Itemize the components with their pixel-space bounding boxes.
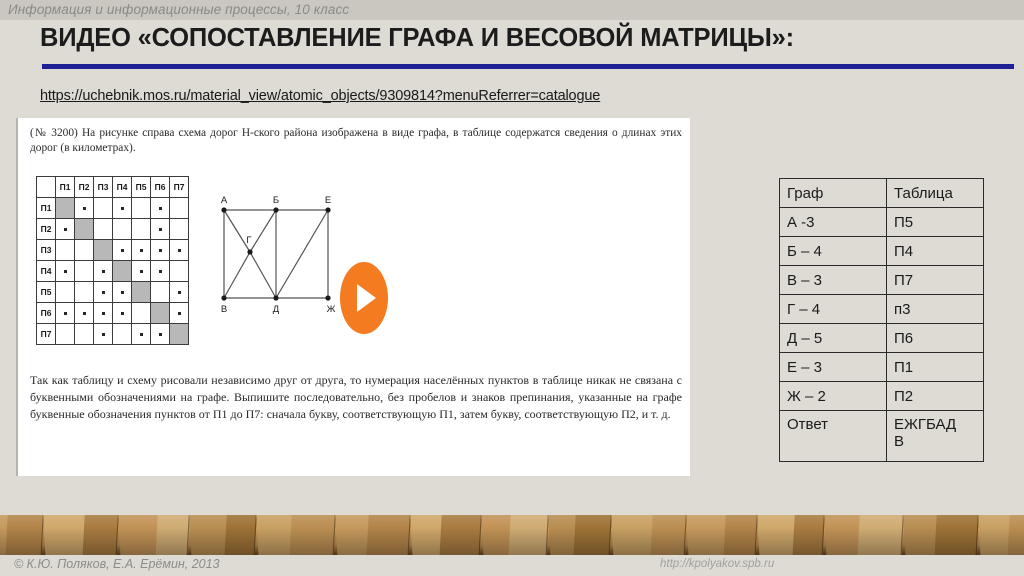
- matrix-row-header: П4: [37, 261, 56, 282]
- task-intro-text: (№ 3200) На рисунке справа схема дорог Н…: [30, 126, 682, 155]
- matrix-marked-cell: [94, 324, 113, 345]
- task-outro-text: Так как таблицу и схему рисовали независ…: [30, 372, 682, 423]
- matrix-empty-cell: [132, 219, 151, 240]
- matrix-row: П4: [37, 261, 189, 282]
- mapping-row: Е – 3П1: [780, 353, 984, 382]
- matrix-marked-cell: [151, 198, 170, 219]
- matrix-col-header: П5: [132, 177, 151, 198]
- matrix-marked-cell: [132, 261, 151, 282]
- matrix-empty-cell: [132, 198, 151, 219]
- course-label: Информация и информационные процессы, 10…: [8, 2, 349, 17]
- matrix-marked-cell: [170, 240, 189, 261]
- matrix-marked-cell: [75, 303, 94, 324]
- footer-site-link: http://kpolyakov.spb.ru: [660, 558, 774, 570]
- matrix-marked-cell: [132, 240, 151, 261]
- matrix-row: П3: [37, 240, 189, 261]
- matrix-marked-cell: [113, 303, 132, 324]
- matrix-empty-cell: [75, 261, 94, 282]
- graph-edge: [250, 210, 276, 252]
- matrix-empty-cell: [170, 198, 189, 219]
- graph-diagram: АБЕГВДЖ: [204, 180, 354, 330]
- matrix-marked-cell: [94, 261, 113, 282]
- matrix-marked-cell: [151, 261, 170, 282]
- matrix-header-row: П1П2П3П4П5П6П7: [37, 177, 189, 198]
- mapping-graph-cell: Г – 4: [780, 295, 887, 324]
- matrix-empty-cell: [56, 282, 75, 303]
- mapping-graph-cell: Е – 3: [780, 353, 887, 382]
- graph-vertex: [273, 207, 278, 212]
- mapping-table-cell: П7: [887, 266, 984, 295]
- mapping-row: В – 3П7: [780, 266, 984, 295]
- matrix-row: П7: [37, 324, 189, 345]
- matrix-diagonal-cell: [170, 324, 189, 345]
- mapping-row: Б – 4П4: [780, 237, 984, 266]
- matrix-row: П1: [37, 198, 189, 219]
- slide: Информация и информационные процессы, 10…: [0, 0, 1024, 576]
- mapping-table-cell: П6: [887, 324, 984, 353]
- matrix-marked-cell: [113, 282, 132, 303]
- mapping-col-header: Таблица: [887, 179, 984, 208]
- play-triangle-icon: [357, 284, 376, 312]
- matrix-marked-cell: [94, 303, 113, 324]
- matrix-diagonal-cell: [56, 198, 75, 219]
- matrix-corner-cell: [37, 177, 56, 198]
- matrix-empty-cell: [75, 240, 94, 261]
- matrix-row: П2: [37, 219, 189, 240]
- matrix-col-header: П2: [75, 177, 94, 198]
- graph-vertex-label: А: [221, 195, 228, 206]
- graph-vertex-label: Е: [325, 195, 331, 206]
- matrix-marked-cell: [94, 282, 113, 303]
- matrix-diagonal-cell: [132, 282, 151, 303]
- mapping-table: ГрафТаблицаА -3П5Б – 4П4В – 3П7Г – 4п3Д …: [779, 178, 984, 462]
- matrix-marked-cell: [151, 219, 170, 240]
- matrix-diagonal-cell: [113, 261, 132, 282]
- mapping-table-cell: П1: [887, 353, 984, 382]
- footer-bar: © К.Ю. Поляков, Е.А. Ерёмин, 2013 http:/…: [0, 555, 1024, 576]
- mapping-graph-cell: Ж – 2: [780, 382, 887, 411]
- matrix-row-header: П5: [37, 282, 56, 303]
- mapping-graph-cell: А -3: [780, 208, 887, 237]
- matrix-empty-cell: [75, 324, 94, 345]
- mapping-answer-row: ОтветЕЖГБАД В: [780, 411, 984, 462]
- graph-vertex: [221, 295, 226, 300]
- matrix-marked-cell: [56, 261, 75, 282]
- title-divider: [42, 64, 1014, 69]
- mapping-row: А -3П5: [780, 208, 984, 237]
- matrix-row-header: П2: [37, 219, 56, 240]
- matrix-empty-cell: [56, 324, 75, 345]
- matrix-row-header: П7: [37, 324, 56, 345]
- graph-vertex: [325, 207, 330, 212]
- graph-vertex-label: Б: [273, 195, 279, 206]
- mapping-row: Ж – 2П2: [780, 382, 984, 411]
- matrix-row-header: П6: [37, 303, 56, 324]
- matrix-marked-cell: [113, 198, 132, 219]
- matrix-marked-cell: [113, 240, 132, 261]
- matrix-row: П5: [37, 282, 189, 303]
- matrix-empty-cell: [56, 240, 75, 261]
- graph-vertex-label: Г: [246, 235, 251, 246]
- matrix-col-header: П6: [151, 177, 170, 198]
- matrix-empty-cell: [170, 261, 189, 282]
- mapping-col-header: Граф: [780, 179, 887, 208]
- graph-vertex-label: В: [221, 304, 227, 315]
- matrix-empty-cell: [132, 303, 151, 324]
- mapping-table-cell: П5: [887, 208, 984, 237]
- matrix-marked-cell: [56, 303, 75, 324]
- graph-vertex-label: Д: [273, 304, 280, 315]
- mapping-graph-cell: Ответ: [780, 411, 887, 462]
- graph-svg: АБЕГВДЖ: [204, 180, 354, 330]
- mapping-header-row: ГрафТаблица: [780, 179, 984, 208]
- graph-edge: [276, 210, 328, 298]
- matrix-diagonal-cell: [151, 303, 170, 324]
- video-link[interactable]: https://uchebnik.mos.ru/material_view/at…: [40, 88, 600, 104]
- play-button[interactable]: [340, 262, 388, 334]
- page-title: ВИДЕО «СОПОСТАВЛЕНИЕ ГРАФА И ВЕСОВОЙ МАТ…: [40, 24, 1000, 53]
- matrix-row-header: П1: [37, 198, 56, 219]
- mapping-graph-cell: Б – 4: [780, 237, 887, 266]
- mapping-table-cell: ЕЖГБАД В: [887, 411, 984, 462]
- matrix-row-header: П3: [37, 240, 56, 261]
- matrix-empty-cell: [113, 219, 132, 240]
- graph-edge: [250, 252, 276, 298]
- matrix-diagonal-cell: [94, 240, 113, 261]
- copyright-label: © К.Ю. Поляков, Е.А. Ерёмин, 2013: [14, 557, 220, 571]
- matrix-marked-cell: [151, 324, 170, 345]
- matrix-col-header: П3: [94, 177, 113, 198]
- graph-vertex: [247, 249, 252, 254]
- graph-vertex: [273, 295, 278, 300]
- matrix-empty-cell: [94, 219, 113, 240]
- mapping-row: Д – 5П6: [780, 324, 984, 353]
- top-header-bar: Информация и информационные процессы, 10…: [0, 0, 1024, 20]
- matrix-empty-cell: [75, 282, 94, 303]
- mapping-table-cell: п3: [887, 295, 984, 324]
- matrix-empty-cell: [151, 282, 170, 303]
- mapping-row: Г – 4п3: [780, 295, 984, 324]
- matrix-empty-cell: [170, 219, 189, 240]
- matrix-marked-cell: [56, 219, 75, 240]
- floor-shading: [0, 515, 1024, 555]
- mapping-table-cell: П2: [887, 382, 984, 411]
- graph-edge: [224, 252, 250, 298]
- mapping-graph-cell: Д – 5: [780, 324, 887, 353]
- matrix-marked-cell: [170, 303, 189, 324]
- matrix-empty-cell: [94, 198, 113, 219]
- matrix-col-header: П7: [170, 177, 189, 198]
- mapping-graph-cell: В – 3: [780, 266, 887, 295]
- graph-vertex: [221, 207, 226, 212]
- matrix-col-header: П4: [113, 177, 132, 198]
- graph-vertex: [325, 295, 330, 300]
- graph-vertex-label: Ж: [327, 304, 336, 315]
- mapping-table-cell: П4: [887, 237, 984, 266]
- matrix-marked-cell: [170, 282, 189, 303]
- matrix-row: П6: [37, 303, 189, 324]
- matrix-marked-cell: [75, 198, 94, 219]
- matrix-marked-cell: [151, 240, 170, 261]
- matrix-marked-cell: [132, 324, 151, 345]
- matrix-col-header: П1: [56, 177, 75, 198]
- matrix-diagonal-cell: [75, 219, 94, 240]
- matrix-empty-cell: [113, 324, 132, 345]
- adjacency-matrix: П1П2П3П4П5П6П7П1П2П3П4П5П6П7: [36, 176, 189, 345]
- wooden-floor-decoration: [0, 515, 1024, 555]
